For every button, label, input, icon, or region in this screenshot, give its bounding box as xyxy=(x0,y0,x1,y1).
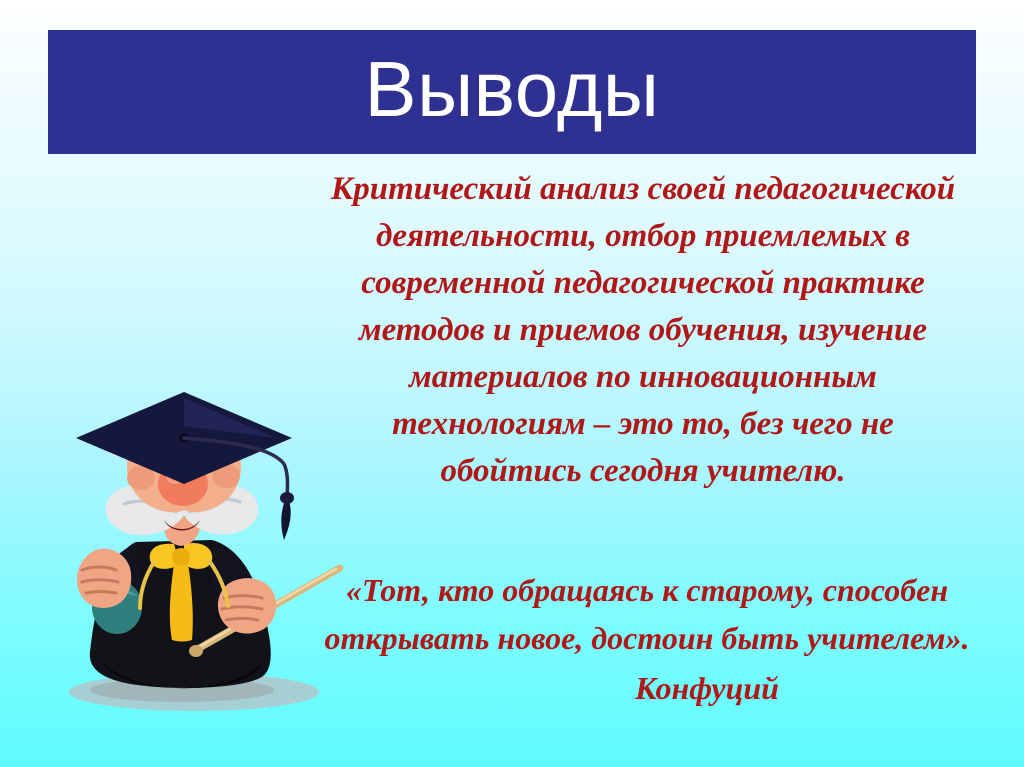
page-title: Выводы xyxy=(365,50,660,134)
body-text-block: Критический анализ своей педагогической … xyxy=(322,166,964,495)
bow-tie-knot xyxy=(172,548,190,566)
tassel-head xyxy=(280,492,294,504)
quote-author: Конфуций xyxy=(322,666,972,710)
bow-tie-tail xyxy=(170,564,193,642)
conclusion-paragraph: Критический анализ своей педагогической … xyxy=(322,166,964,495)
title-banner: Выводы xyxy=(48,30,976,154)
quote-block: «Тот, кто обращаясь к старому, способен … xyxy=(322,566,972,710)
professor-svg xyxy=(44,392,344,714)
quote-text: «Тот, кто обращаясь к старому, способен … xyxy=(322,566,972,662)
pointer-tip xyxy=(189,645,203,657)
professor-illustration xyxy=(44,392,344,714)
slide-canvas: Выводы Критический анализ своей педагоги… xyxy=(0,0,1024,767)
